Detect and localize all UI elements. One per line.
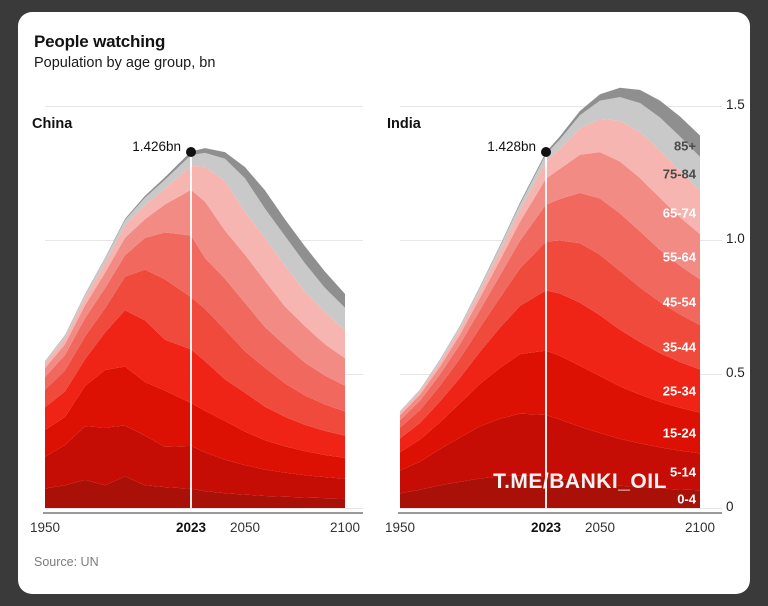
stacked-area-plot bbox=[18, 12, 396, 594]
age-group-label-15-24: 15-24 bbox=[663, 425, 696, 440]
peak-marker-dot bbox=[186, 147, 196, 157]
x-tick-1950: 1950 bbox=[385, 520, 415, 535]
x-tick-2050: 2050 bbox=[585, 520, 615, 535]
age-group-label-25-34: 25-34 bbox=[663, 384, 696, 399]
watermark-text: T.ME/BANKI_OIL bbox=[493, 470, 667, 494]
peak-value-label: 1.426bn bbox=[132, 139, 181, 154]
y-tick-0: 0 bbox=[726, 499, 734, 514]
x-axis-line bbox=[43, 512, 363, 514]
age-group-label-0-4: 0-4 bbox=[677, 492, 696, 507]
panel-india: India1.428bn19502023205021000-45-1415-24… bbox=[373, 12, 750, 594]
x-tick-2023: 2023 bbox=[531, 520, 561, 535]
x-tick-2100: 2100 bbox=[685, 520, 715, 535]
panel-label-india: India bbox=[387, 116, 421, 132]
y-tick-1.5: 1.5 bbox=[726, 97, 745, 112]
peak-marker-line bbox=[190, 152, 192, 508]
peak-marker-line bbox=[545, 152, 547, 508]
x-tick-2023: 2023 bbox=[176, 520, 206, 535]
y-tick-1.0: 1.0 bbox=[726, 231, 745, 246]
age-group-label-45-54: 45-54 bbox=[663, 295, 696, 310]
peak-value-label: 1.428bn bbox=[487, 139, 536, 154]
panel-label-china: China bbox=[32, 116, 72, 132]
x-axis-line bbox=[398, 512, 722, 514]
age-group-label-35-44: 35-44 bbox=[663, 340, 696, 355]
chart-card: People watching Population by age group,… bbox=[18, 12, 750, 594]
y-tick-0.5: 0.5 bbox=[726, 365, 745, 380]
age-group-label-5-14: 5-14 bbox=[670, 464, 696, 479]
age-group-label-85+: 85+ bbox=[674, 139, 696, 154]
x-tick-2100: 2100 bbox=[330, 520, 360, 535]
x-tick-1950: 1950 bbox=[30, 520, 60, 535]
age-group-label-65-74: 65-74 bbox=[663, 205, 696, 220]
panel-china: China1.426bn1950202320502100 bbox=[18, 12, 378, 594]
age-group-label-55-64: 55-64 bbox=[663, 249, 696, 264]
x-tick-2050: 2050 bbox=[230, 520, 260, 535]
age-group-label-75-84: 75-84 bbox=[663, 166, 696, 181]
source-note: Source: UN bbox=[34, 555, 99, 569]
